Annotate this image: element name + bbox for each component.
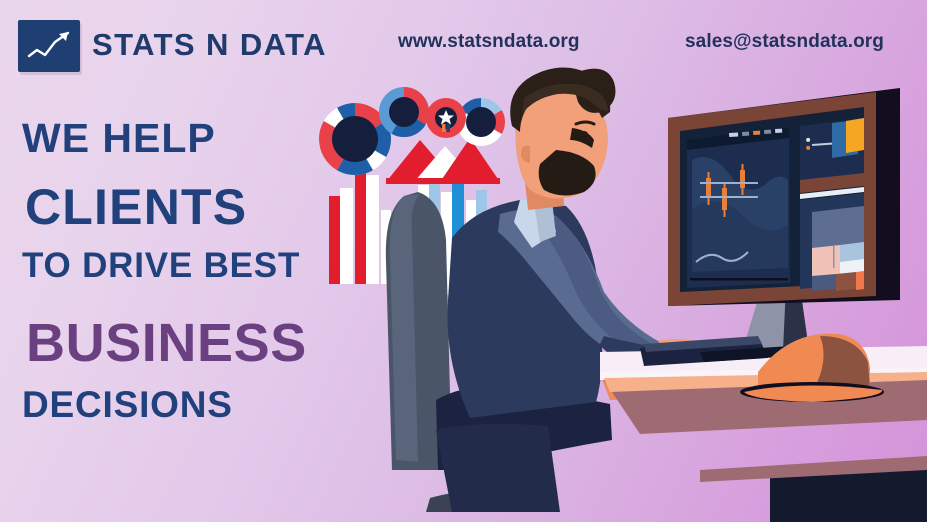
badge-star-icon [426, 98, 466, 138]
heatmap-panel [812, 206, 864, 291]
headline-line-1: WE HELP [22, 118, 216, 159]
marketing-banner: STATS N DATA www.statsndata.org sales@st… [0, 0, 927, 522]
website-link[interactable]: www.statsndata.org [398, 31, 580, 53]
banner-header: STATS N DATA www.statsndata.org sales@st… [0, 0, 927, 88]
headline-line-3: TO DRIVE BEST [22, 248, 300, 283]
logo-mark [18, 20, 80, 72]
brand-name: STATS N DATA [92, 27, 327, 63]
donut-chart-medium [379, 87, 429, 137]
headline-line-2: CLIENTS [25, 182, 247, 232]
headline-line-5: DECISIONS [22, 386, 233, 423]
trending-up-line-chart-icon [18, 20, 80, 72]
email-link[interactable]: sales@statsndata.org [685, 31, 884, 53]
headline-line-4: BUSINESS [26, 316, 307, 370]
